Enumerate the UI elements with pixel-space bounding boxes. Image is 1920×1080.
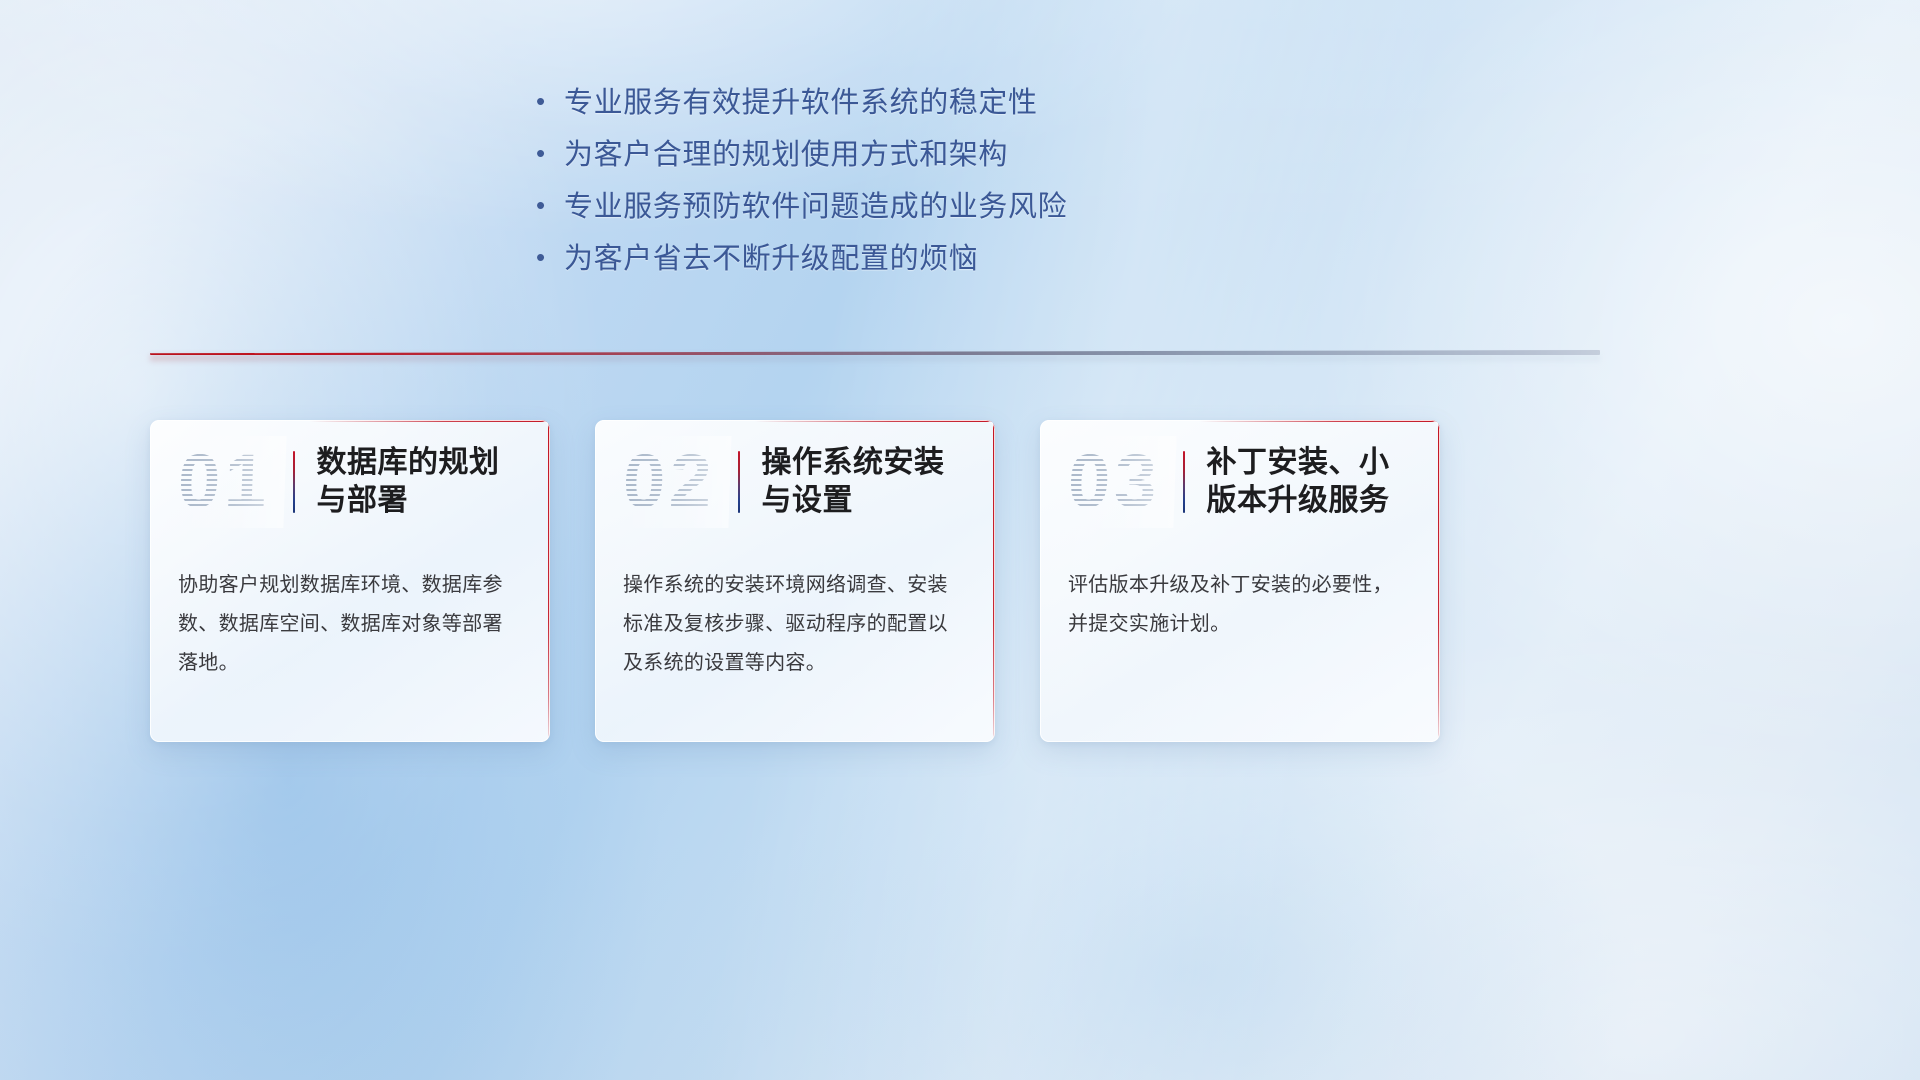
divider-shadow (150, 355, 1600, 361)
card-title: 补丁安装、小版本升级服务 (1207, 444, 1414, 521)
card-item[interactable]: 02 操作系统安装与设置 操作系统的安装环境网络调查、安装标准及复核步骤、驱动程… (595, 420, 995, 742)
bullet-dot-icon: • (536, 192, 564, 218)
card-header: 02 操作系统安装与设置 (595, 420, 995, 544)
section-divider (150, 344, 1600, 366)
bullet-item-text: 专业服务预防软件问题造成的业务风险 (564, 190, 1067, 225)
card-body-text: 评估版本升级及补丁安装的必要性，并提交实施计划。 (1040, 544, 1440, 644)
card-header: 01 数据库的规划与部署 (150, 420, 550, 544)
card-number-watermark: 02 (622, 444, 725, 520)
card-divider-bar (1183, 451, 1185, 513)
card-item[interactable]: 01 数据库的规划与部署 协助客户规划数据库环境、数据库参数、数据库空间、数据库… (150, 420, 550, 742)
card-title: 数据库的规划与部署 (317, 444, 524, 521)
bullet-item-text: 为客户省去不断升级配置的烦恼 (564, 242, 978, 277)
bullet-dot-icon: • (536, 88, 564, 114)
card-number-watermark: 03 (1067, 444, 1170, 520)
bullet-item-1: • 专业服务有效提升软件系统的稳定性 (536, 86, 1436, 138)
slide-content: • 专业服务有效提升软件系统的稳定性 • 为客户合理的规划使用方式和架构 • 专… (0, 0, 1920, 1080)
bullet-dot-icon: • (536, 140, 564, 166)
bullet-item-3: • 专业服务预防软件问题造成的业务风险 (536, 190, 1436, 242)
card-body-text: 操作系统的安装环境网络调查、安装标准及复核步骤、驱动程序的配置以及系统的设置等内… (595, 544, 995, 683)
card-divider-bar (738, 451, 740, 513)
card-divider-bar (293, 451, 295, 513)
card-body-text: 协助客户规划数据库环境、数据库参数、数据库空间、数据库对象等部署落地。 (150, 544, 550, 683)
bullet-item-text: 为客户合理的规划使用方式和架构 (564, 138, 1008, 173)
card-item[interactable]: 03 补丁安装、小版本升级服务 评估版本升级及补丁安装的必要性，并提交实施计划。 (1040, 420, 1440, 742)
card-header: 03 补丁安装、小版本升级服务 (1040, 420, 1440, 544)
divider-line (150, 350, 1600, 355)
card-title: 操作系统安装与设置 (762, 444, 969, 521)
card-number-watermark: 01 (177, 444, 280, 520)
bullet-list: • 专业服务有效提升软件系统的稳定性 • 为客户合理的规划使用方式和架构 • 专… (536, 86, 1436, 294)
bullet-item-text: 专业服务有效提升软件系统的稳定性 (564, 86, 1038, 121)
card-list: 01 数据库的规划与部署 协助客户规划数据库环境、数据库参数、数据库空间、数据库… (150, 420, 1600, 742)
bullet-dot-icon: • (536, 244, 564, 270)
bullet-item-4: • 为客户省去不断升级配置的烦恼 (536, 242, 1436, 294)
bullet-item-2: • 为客户合理的规划使用方式和架构 (536, 138, 1436, 190)
